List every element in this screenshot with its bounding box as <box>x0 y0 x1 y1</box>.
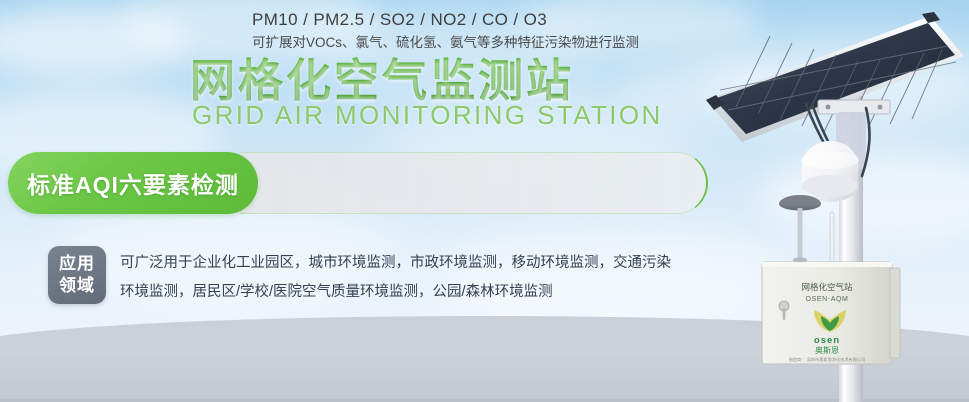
specification-band: 标准AQI六要素检测 <box>8 152 708 214</box>
cabinet-title-text: 网格化空气站 <box>801 282 853 292</box>
air-intake-sensor-head <box>779 195 821 263</box>
cabinet-model-text: OSEN-AQM <box>806 296 849 303</box>
specification-extension: 可扩展对VOCs、氯气、硫化氢、氨气等多种特征污染物进行监测 <box>252 33 682 53</box>
antenna-rod <box>830 212 834 262</box>
application-field-block: 应用 领域 可广泛用于企业化工业园区，城市环境监测，市政环境监测，移动环境监测，… <box>48 246 688 308</box>
application-description: 可广泛用于企业化工业园区，城市环境监测，市政环境监测，移动环境监测，交通污染 环… <box>120 249 720 307</box>
aqi-badge-label: 标准AQI六要素检测 <box>27 166 239 200</box>
dome-camera <box>801 141 859 202</box>
application-description-line2: 环境监测，居民区/学校/医院空气质量环境监测，公园/森林环境监测 <box>120 278 720 307</box>
aqi-six-parameter-badge: 标准AQI六要素检测 <box>8 152 258 214</box>
brand-chinese-text: 奥斯恩 <box>815 345 839 355</box>
station-svg: 网格化空气站 OSEN-AQM osen 奥斯恩 制造商： 深圳市奥斯恩净化技术… <box>690 0 969 402</box>
cabinet-manufacturer-text: 制造商： 深圳市奥斯恩净化技术有限公司 <box>789 356 866 363</box>
cloud-decoration <box>0 6 190 76</box>
specification-panel <box>240 152 708 214</box>
application-badge-line2: 领域 <box>59 275 95 297</box>
brand-latin-text: osen <box>814 335 840 346</box>
application-field-badge: 应用 领域 <box>48 246 106 304</box>
solar-panel-assembly <box>706 12 964 142</box>
equipment-cabinet: 网格化空气站 OSEN-AQM osen 奥斯恩 制造商： 深圳市奥斯恩净化技术… <box>762 262 900 364</box>
page-title-english: GRID AIR MONITORING STATION <box>192 100 663 131</box>
specification-parameters: PM10 / PM2.5 / SO2 / NO2 / CO / O3 <box>252 9 682 31</box>
monitoring-station-illustration: 网格化空气站 OSEN-AQM osen 奥斯恩 制造商： 深圳市奥斯恩净化技术… <box>690 0 969 402</box>
application-description-line1: 可广泛用于企业化工业园区，城市环境监测，市政环境监测，移动环境监测，交通污染 <box>120 249 720 278</box>
application-badge-line1: 应用 <box>59 253 95 275</box>
specification-text: PM10 / PM2.5 / SO2 / NO2 / CO / O3 可扩展对V… <box>252 9 682 53</box>
grid-air-monitoring-station-banner: 网格化空气监测站 GRID AIR MONITORING STATION 标准A… <box>0 0 969 402</box>
